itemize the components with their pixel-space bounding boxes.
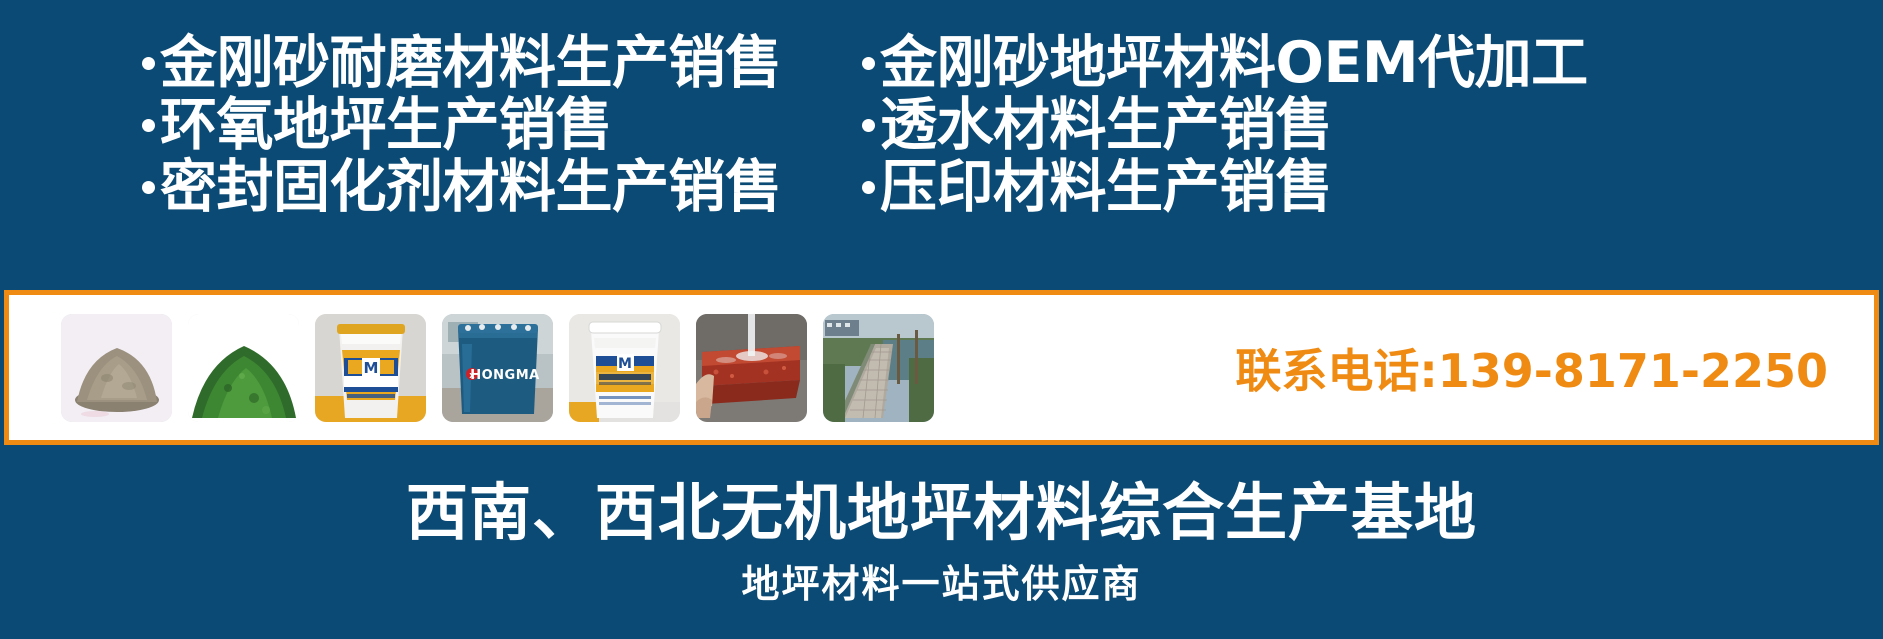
svg-text:M: M xyxy=(364,359,379,377)
service-item: 金刚砂地坪材料OEM代加工 xyxy=(862,34,1588,92)
product-photo-green-aggregate xyxy=(188,314,299,422)
product-photo-row: M xyxy=(61,314,934,422)
service-item: 密封固化剂材料生产销售 xyxy=(142,158,782,216)
service-label: 环氧地坪生产销售 xyxy=(160,96,612,154)
bullet-dot-icon xyxy=(142,57,155,70)
promotional-banner: 金刚砂耐磨材料生产销售 环氧地坪生产销售 密封固化剂材料生产销售 金刚砂地坪材料… xyxy=(0,0,1883,639)
services-right-column: 金刚砂地坪材料OEM代加工 透水材料生产销售 压印材料生产销售 xyxy=(862,34,1588,220)
bullet-dot-icon xyxy=(862,57,875,70)
service-item: 压印材料生产销售 xyxy=(862,158,1588,216)
service-item: 环氧地坪生产销售 xyxy=(142,96,782,154)
service-label: 密封固化剂材料生产销售 xyxy=(160,158,782,216)
banner-subheadline: 地坪材料一站式供应商 xyxy=(0,553,1883,608)
product-photo-sealer-pail: M xyxy=(315,314,426,422)
service-label: 压印材料生产销售 xyxy=(880,158,1332,216)
service-label: 金刚砂耐磨材料生产销售 xyxy=(160,34,782,92)
product-photo-epoxy-pail: M xyxy=(569,314,680,422)
contact-phone[interactable]: 联系电话:139-8171-2250 xyxy=(1235,335,1828,401)
product-showcase-strip: M xyxy=(4,290,1879,445)
services-bullet-lists: 金刚砂耐磨材料生产销售 环氧地坪生产销售 密封固化剂材料生产销售 金刚砂地坪材料… xyxy=(0,34,1883,244)
svg-text:M: M xyxy=(618,356,632,372)
bullet-dot-icon xyxy=(862,181,875,194)
bullet-dot-icon xyxy=(142,181,155,194)
product-photo-grey-powder xyxy=(61,314,172,422)
service-item: 金刚砂耐磨材料生产销售 xyxy=(142,34,782,92)
service-label: 金刚砂地坪材料OEM代加工 xyxy=(880,34,1588,92)
services-left-column: 金刚砂耐磨材料生产销售 环氧地坪生产销售 密封固化剂材料生产销售 xyxy=(142,34,782,220)
bullet-dot-icon xyxy=(142,119,155,132)
product-photo-hongma-drum: X HONGMA xyxy=(442,314,553,422)
bullet-dot-icon xyxy=(862,119,875,132)
banner-headline: 西南、西北无机地坪材料综合生产基地 xyxy=(0,462,1883,552)
service-label: 透水材料生产销售 xyxy=(880,96,1332,154)
svg-text:HONGMA: HONGMA xyxy=(470,368,539,383)
service-item: 透水材料生产销售 xyxy=(862,96,1588,154)
product-photo-pervious-slab xyxy=(696,314,807,422)
product-photo-stamped-path xyxy=(823,314,934,422)
